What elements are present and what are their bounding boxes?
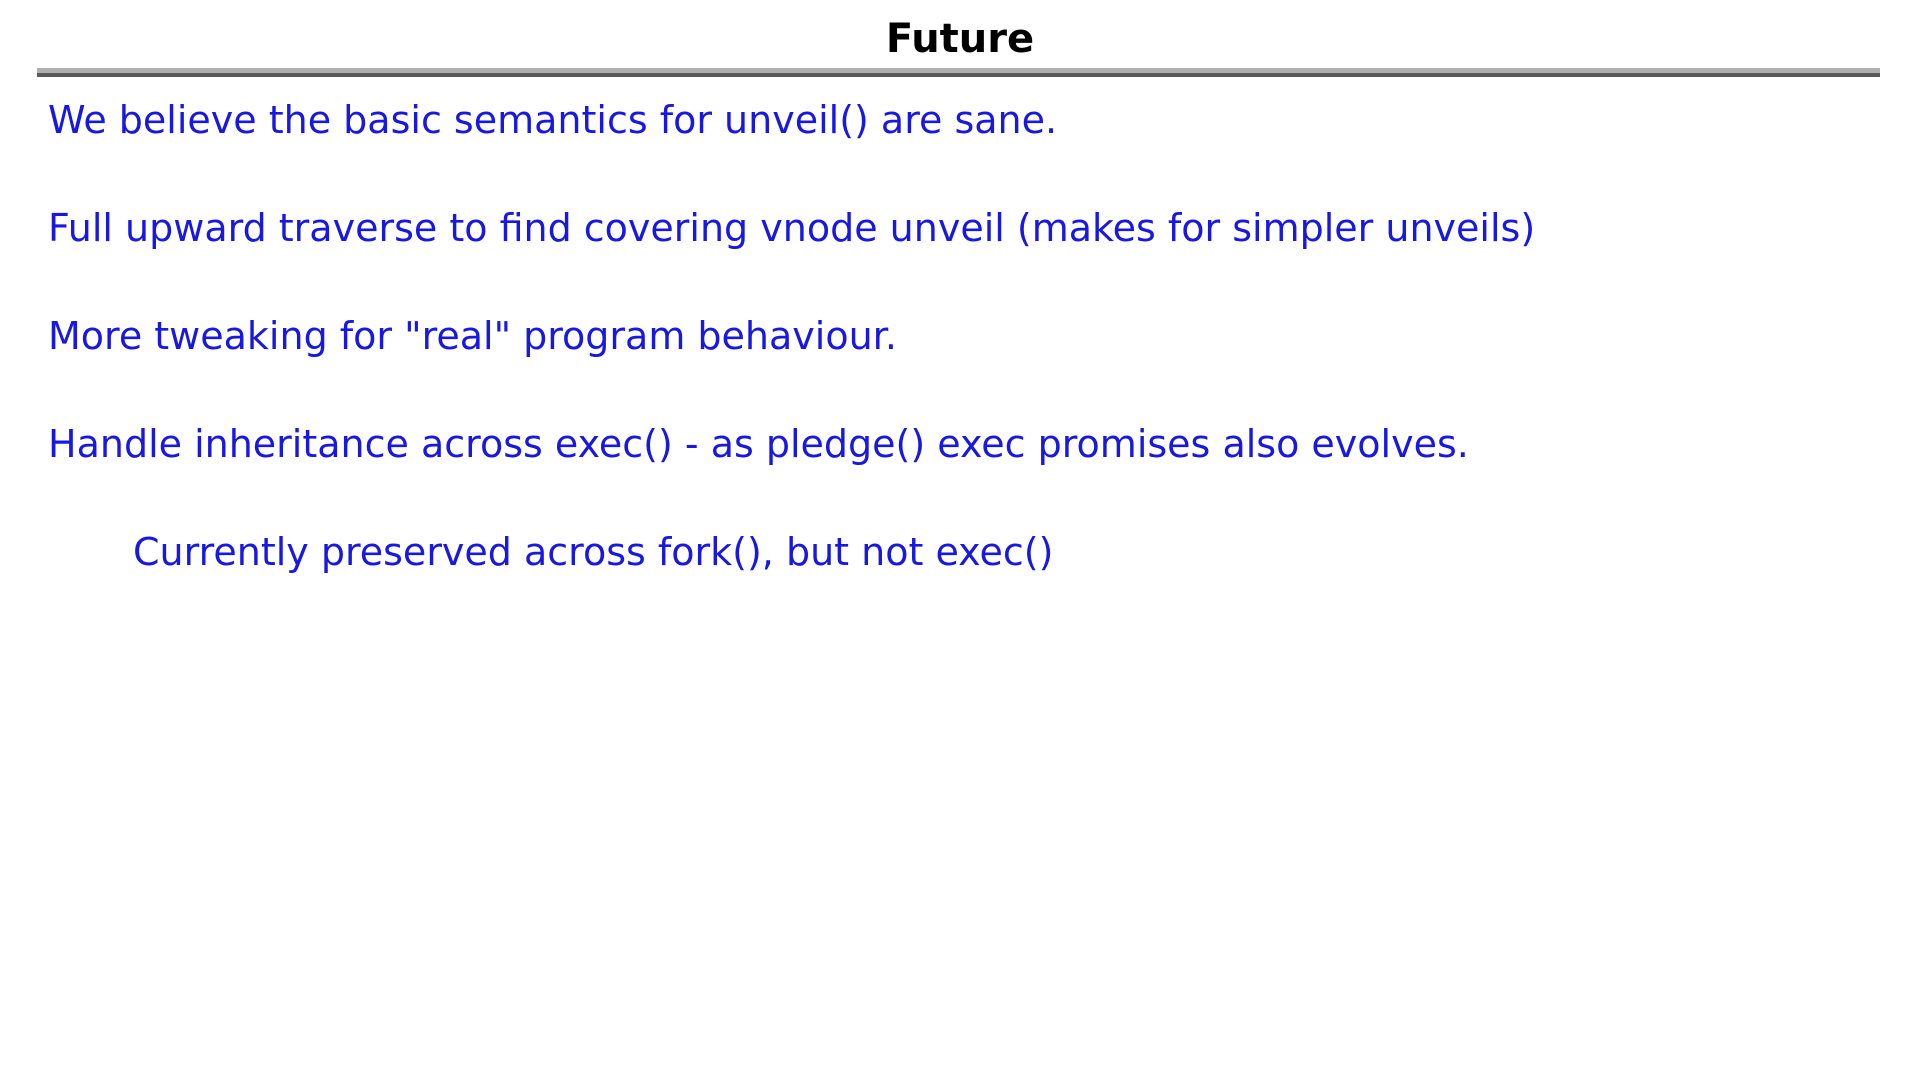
body-sub-line-1: Currently preserved across fork(), but n… (133, 530, 1053, 574)
body-line-3: More tweaking for "real" program behavio… (48, 314, 897, 358)
slide-canvas: Future We believe the basic semantics fo… (0, 0, 1920, 1080)
body-line-4: Handle inheritance across exec() - as pl… (48, 422, 1469, 466)
body-line-2: Full upward traverse to find covering vn… (48, 206, 1535, 250)
body-line-1: We believe the basic semantics for unvei… (48, 98, 1057, 142)
slide-body: We believe the basic semantics for unvei… (0, 0, 1920, 1080)
